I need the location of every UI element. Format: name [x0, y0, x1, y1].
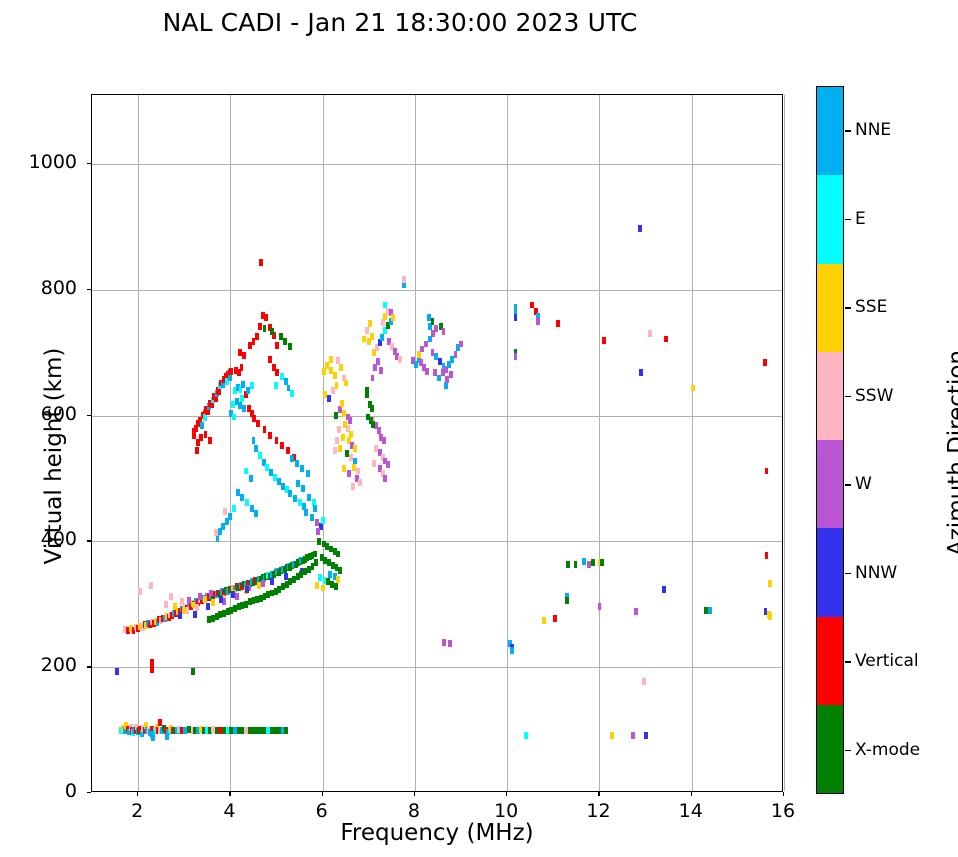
ionogram-echo-point [232, 414, 236, 421]
ionogram-echo-point [286, 447, 290, 454]
ionogram-echo-point [217, 388, 221, 395]
ionogram-echo-point [449, 371, 453, 378]
ionogram-echo-point [274, 588, 278, 595]
ionogram-echo-point [333, 447, 337, 454]
ionogram-echo-point [247, 405, 251, 412]
ionogram-echo-point [610, 732, 614, 739]
ionogram-echo-point [288, 343, 292, 350]
x-tick-mark [414, 792, 415, 796]
ionogram-echo-point [252, 597, 256, 604]
ionogram-echo-point [345, 450, 349, 457]
ionogram-echo-point [356, 468, 360, 475]
ionogram-echo-point [254, 445, 258, 452]
ionogram-echo-point [187, 597, 191, 604]
x-tick-label: 6 [292, 800, 352, 822]
x-tick-mark [598, 792, 599, 796]
y-tick-mark [87, 792, 91, 793]
ionogram-echo-point [341, 434, 345, 441]
ionogram-echo-point [338, 445, 342, 452]
ionogram-echo-point [219, 596, 223, 603]
ionogram-echo-point [442, 328, 446, 335]
ionogram-echo-point [510, 647, 514, 654]
colorbar [816, 86, 844, 794]
ionogram-echo-point [225, 518, 229, 525]
ionogram-echo-point [296, 573, 300, 580]
ionogram-echo-point [235, 593, 239, 600]
ionogram-echo-point [263, 325, 267, 332]
ionogram-echo-point [242, 352, 246, 359]
ionogram-echo-point [336, 357, 340, 364]
ionogram-echo-point [258, 323, 262, 330]
y-tick-label: 200 [7, 654, 77, 676]
ionogram-echo-point [631, 732, 635, 739]
ionogram-echo-point [266, 591, 270, 598]
ionogram-echo-point [381, 319, 385, 326]
colorbar-segment-nnw [817, 528, 843, 616]
ionogram-echo-point [644, 732, 648, 739]
ionogram-echo-point [195, 447, 199, 454]
ionogram-echo-point [334, 583, 338, 590]
colorbar-tick-mark [845, 573, 851, 574]
ionogram-echo-point [255, 596, 259, 603]
ionogram-echo-point [566, 561, 570, 568]
ionogram-echo-point [553, 615, 557, 622]
x-tick-label: 4 [199, 800, 259, 822]
ionogram-echo-point [368, 320, 372, 327]
ionogram-echo-point [228, 513, 232, 520]
colorbar-segment-e [817, 175, 843, 263]
ionogram-echo-point [327, 395, 331, 402]
ionogram-echo-point [514, 314, 518, 321]
ionogram-echo-point [149, 582, 153, 589]
ionogram-echo-point [321, 585, 325, 592]
ionogram-echo-point [536, 318, 540, 325]
x-axis-title: Frequency (MHz) [91, 820, 783, 846]
ionogram-echo-point [370, 405, 374, 412]
ionogram-echo-point [514, 304, 518, 311]
ionogram-echo-point [662, 586, 666, 593]
ionogram-echo-point [178, 612, 182, 619]
ionogram-echo-point [298, 499, 302, 506]
ionogram-echo-point [337, 426, 341, 433]
ionogram-echo-point [164, 601, 168, 608]
ionogram-echo-point [285, 581, 289, 588]
ionogram-echo-point [376, 358, 380, 365]
ionogram-echo-point [275, 342, 279, 349]
colorbar-label-e: E [855, 209, 866, 229]
x-tick-label: 2 [107, 800, 167, 822]
ionogram-echo-point [288, 578, 292, 585]
ionogram-echo-point [322, 368, 326, 375]
ionogram-echo-point [336, 576, 340, 583]
ionogram-echo-point [296, 480, 300, 487]
ionogram-echo-point [431, 318, 435, 325]
ionogram-echo-point [514, 353, 518, 360]
ionogram-echo-point [301, 485, 305, 492]
ionogram-echo-point [379, 367, 383, 374]
colorbar-tick-mark [845, 307, 851, 308]
ionogram-echo-point [158, 719, 162, 726]
ionogram-echo-point [648, 330, 652, 337]
ionogram-echo-point [304, 509, 308, 516]
x-tick-label: 14 [661, 800, 721, 822]
ionogram-echo-point [165, 733, 169, 740]
ionogram-echo-point [380, 334, 384, 341]
ionogram-echo-point [226, 608, 230, 615]
ionogram-echo-point [263, 593, 267, 600]
ionogram-echo-point [598, 603, 602, 610]
ionogram-echo-point [270, 328, 274, 335]
ionogram-echo-point [240, 602, 244, 609]
colorbar-segment-x-mode [817, 705, 843, 793]
ionogram-echo-point [600, 559, 604, 566]
ionogram-echo-point [245, 499, 249, 506]
ionogram-echo-point [290, 390, 294, 397]
y-tick-label: 0 [7, 780, 77, 802]
ionogram-echo-point [292, 576, 296, 583]
ionogram-echo-point [293, 495, 297, 502]
ionogram-echo-point [277, 586, 281, 593]
ionogram-echo-point [708, 607, 712, 614]
ionogram-echo-point [768, 613, 772, 620]
ionogram-echo-point [333, 372, 337, 379]
ionogram-echo-point [765, 552, 769, 559]
colorbar-label-ssw: SSW [855, 386, 893, 406]
ionogram-echo-point [238, 402, 242, 409]
page-title: NAL CADI - Jan 21 18:30:00 2023 UTC [0, 8, 800, 37]
ionogram-echo-point [288, 490, 292, 497]
ionogram-echo-point [763, 359, 767, 366]
ionogram-echo-point [382, 437, 386, 444]
ionogram-echo-point [242, 405, 246, 412]
x-tick-mark [229, 792, 230, 796]
ionogram-echo-point [335, 382, 339, 389]
ionogram-echo-point [339, 364, 343, 371]
colorbar-tick-mark [845, 750, 851, 751]
ionogram-echo-point [211, 615, 215, 622]
ionogram-echo-point [209, 590, 213, 597]
ionogram-echo-point [241, 381, 245, 388]
ionogram-echo-point [284, 573, 288, 580]
ionogram-echo-point [295, 460, 299, 467]
ionogram-echo-point [208, 437, 212, 444]
ionogram-echo-point [704, 607, 708, 614]
y-tick-mark [87, 163, 91, 164]
ionogram-echo-point [223, 508, 227, 515]
ionogram-echo-point [314, 559, 318, 566]
ionogram-echo-point [444, 382, 448, 389]
ionogram-echo-point [328, 571, 332, 578]
colorbar-tick-mark [845, 396, 851, 397]
ionogram-echo-point [367, 338, 371, 345]
ionogram-echo-point [638, 225, 642, 232]
colorbar-label-x-mode: X-mode [855, 740, 920, 760]
ionogram-echo-point [307, 566, 311, 573]
ionogram-echo-point [306, 470, 310, 477]
ionogram-echo-point [639, 369, 643, 376]
ionogram-echo-point [229, 607, 233, 614]
ionogram-echo-point [196, 439, 200, 446]
x-tick-label: 10 [476, 800, 536, 822]
ionogram-echo-point [329, 356, 333, 363]
x-tick-label: 16 [753, 800, 813, 822]
ionogram-echo-point [229, 368, 233, 375]
data-points-layer [92, 95, 782, 791]
ionogram-echo-point [310, 514, 314, 521]
x-tick-mark [506, 792, 507, 796]
ionogram-echo-point [248, 598, 252, 605]
colorbar-title: Azimuth Direction [944, 253, 958, 653]
ionogram-echo-point [425, 368, 429, 375]
colorbar-label-nnw: NNW [855, 563, 897, 583]
ionogram-echo-point [664, 336, 668, 343]
colorbar-tick-mark [845, 219, 851, 220]
ionogram-plot-area [91, 94, 783, 792]
ionogram-echo-point [691, 385, 695, 392]
colorbar-segment-vertical [817, 617, 843, 705]
ionogram-echo-point [228, 375, 232, 382]
ionogram-echo-point [768, 580, 772, 587]
ionogram-echo-point [270, 590, 274, 597]
ionogram-echo-point [215, 613, 219, 620]
ionogram-echo-point [313, 505, 317, 512]
ionogram-echo-point [524, 732, 528, 739]
ionogram-echo-point [402, 276, 406, 283]
ionogram-echo-point [273, 474, 277, 481]
colorbar-segment-sse [817, 264, 843, 352]
ionogram-echo-point [264, 314, 268, 321]
ionogram-echo-point [169, 593, 173, 600]
ionogram-echo-point [454, 351, 458, 358]
ionogram-echo-point [358, 479, 362, 486]
ionogram-echo-point [391, 314, 395, 321]
ionogram-echo-point [307, 494, 311, 501]
ionogram-echo-point [275, 437, 279, 444]
ionogram-echo-point [373, 364, 377, 371]
ionogram-echo-point [336, 551, 340, 558]
ionogram-echo-point [386, 461, 390, 468]
ionogram-echo-point [591, 559, 595, 566]
ionogram-echo-point [442, 639, 446, 646]
ionogram-echo-point [343, 421, 347, 428]
ionogram-echo-point [204, 431, 208, 438]
ionogram-echo-point [150, 666, 154, 673]
colorbar-label-nne: NNE [855, 120, 891, 140]
x-tick-mark [783, 792, 784, 796]
ionogram-echo-point [270, 578, 274, 585]
ionogram-echo-point [582, 558, 586, 565]
ionogram-echo-point [371, 375, 375, 382]
ionogram-echo-point [214, 529, 218, 536]
ionogram-echo-point [192, 432, 196, 439]
ionogram-echo-point [268, 432, 272, 439]
ionogram-echo-point [150, 731, 154, 738]
ionogram-echo-point [317, 538, 321, 545]
ionogram-echo-point [263, 426, 267, 433]
ionogram-echo-point [335, 437, 339, 444]
ionogram-echo-point [300, 465, 304, 472]
ionogram-echo-point [231, 591, 235, 598]
ionogram-echo-point [574, 561, 578, 568]
ionogram-echo-point [334, 412, 338, 419]
ionogram-echo-point [351, 483, 355, 490]
colorbar-segment-nne [817, 87, 843, 175]
ionogram-echo-point [252, 437, 256, 444]
ionogram-echo-point [280, 442, 284, 449]
ionogram-echo-point [344, 380, 348, 387]
ionogram-echo-point [459, 341, 463, 348]
ionogram-echo-point [634, 608, 638, 615]
ionogram-echo-point [250, 505, 254, 512]
ionogram-echo-point [259, 595, 263, 602]
ionogram-echo-point [233, 605, 237, 612]
ionogram-echo-point [245, 586, 249, 593]
ionogram-echo-point [249, 475, 253, 482]
ionogram-echo-point [281, 583, 285, 590]
ionogram-echo-point [254, 510, 258, 517]
ionogram-echo-point [340, 400, 344, 407]
ionogram-echo-point [191, 668, 195, 675]
ionogram-echo-point [316, 528, 320, 535]
colorbar-segment-ssw [817, 352, 843, 440]
ionogram-echo-point [299, 571, 303, 578]
ionogram-echo-point [237, 603, 241, 610]
x-tick-label: 12 [568, 800, 628, 822]
ionogram-echo-point [206, 603, 210, 610]
ionogram-echo-point [284, 727, 288, 734]
ionogram-echo-point [347, 470, 351, 477]
ionogram-echo-point [244, 468, 248, 475]
ionogram-echo-point [365, 327, 369, 334]
colorbar-label-w: W [855, 474, 872, 494]
ionogram-echo-point [256, 420, 260, 427]
ionogram-echo-point [434, 325, 438, 332]
ionogram-echo-point [195, 604, 199, 611]
ionogram-echo-point [180, 598, 184, 605]
ionogram-echo-point [283, 338, 287, 345]
ionogram-echo-point [115, 668, 119, 675]
ionogram-echo-point [236, 489, 240, 496]
colorbar-tick-mark [845, 484, 851, 485]
ionogram-echo-point [303, 568, 307, 575]
ionogram-echo-point [313, 551, 317, 558]
ionogram-echo-point [218, 528, 222, 535]
ionogram-echo-point [255, 333, 259, 340]
ionogram-echo-point [323, 577, 327, 584]
x-tick-mark [137, 792, 138, 796]
x-tick-label: 8 [384, 800, 444, 822]
ionogram-echo-point [348, 417, 352, 424]
ionogram-echo-point [238, 349, 242, 356]
ionogram-echo-point [398, 356, 402, 363]
ionogram-echo-point [232, 505, 236, 512]
x-tick-mark [691, 792, 692, 796]
y-tick-mark [87, 540, 91, 541]
ionogram-echo-point [321, 517, 325, 524]
ionogram-echo-point [542, 617, 546, 624]
ionogram-echo-point [200, 422, 204, 429]
ionogram-echo-point [203, 596, 207, 603]
ionogram-echo-point [173, 603, 177, 610]
ionogram-echo-point [427, 314, 431, 321]
ionogram-echo-point [244, 601, 248, 608]
ionogram-echo-point [318, 574, 322, 581]
ionogram-echo-point [259, 259, 263, 266]
ionogram-echo-point [365, 391, 369, 398]
ionogram-echo-point [353, 445, 357, 452]
ionogram-echo-point [250, 382, 254, 389]
ionogram-echo-point [275, 369, 279, 376]
ionogram-echo-point [290, 455, 294, 462]
ionogram-echo-point [138, 588, 142, 595]
colorbar-label-sse: SSE [855, 297, 887, 317]
ionogram-echo-point [342, 465, 346, 472]
x-tick-mark [322, 792, 323, 796]
ionogram-echo-point [383, 475, 387, 482]
ionogram-echo-point [198, 593, 202, 600]
ionogram-echo-point [765, 468, 769, 475]
gridline-vertical [784, 95, 785, 791]
ionogram-echo-point [311, 563, 315, 570]
ionogram-echo-point [274, 382, 278, 389]
y-tick-mark [87, 666, 91, 667]
y-tick-label: 1000 [7, 151, 77, 173]
colorbar-segment-w [817, 440, 843, 528]
ionogram-echo-point [240, 494, 244, 501]
ionogram-echo-point [556, 320, 560, 327]
ionogram-echo-point [362, 336, 366, 343]
ionogram-echo-point [216, 535, 220, 542]
ionogram-echo-point [207, 616, 211, 623]
ionogram-echo-point [222, 610, 226, 617]
ionogram-echo-point [383, 302, 387, 309]
colorbar-tick-mark [845, 130, 851, 131]
ionogram-echo-point [315, 582, 319, 589]
ionogram-echo-point [192, 602, 196, 609]
colorbar-label-vertical: Vertical [855, 651, 919, 671]
ionogram-echo-point [218, 611, 222, 618]
ionogram-echo-point [182, 607, 186, 614]
ionogram-echo-point [602, 337, 606, 344]
colorbar-tick-mark [845, 661, 851, 662]
ionogram-echo-point [372, 460, 376, 467]
y-axis-title: Virtual height (km) [41, 256, 67, 656]
ionogram-echo-point [642, 678, 646, 685]
ionogram-echo-point [371, 421, 375, 428]
ionogram-echo-point [268, 356, 272, 363]
ionogram-echo-point [565, 597, 569, 604]
y-tick-mark [87, 289, 91, 290]
ionogram-echo-point [448, 640, 452, 647]
y-tick-mark [87, 415, 91, 416]
ionogram-echo-point [261, 580, 265, 587]
ionogram-echo-point [193, 611, 197, 618]
ionogram-echo-point [338, 567, 342, 574]
ionogram-echo-point [240, 364, 244, 371]
ionogram-echo-point [530, 302, 534, 309]
ionogram-echo-point [211, 599, 215, 606]
